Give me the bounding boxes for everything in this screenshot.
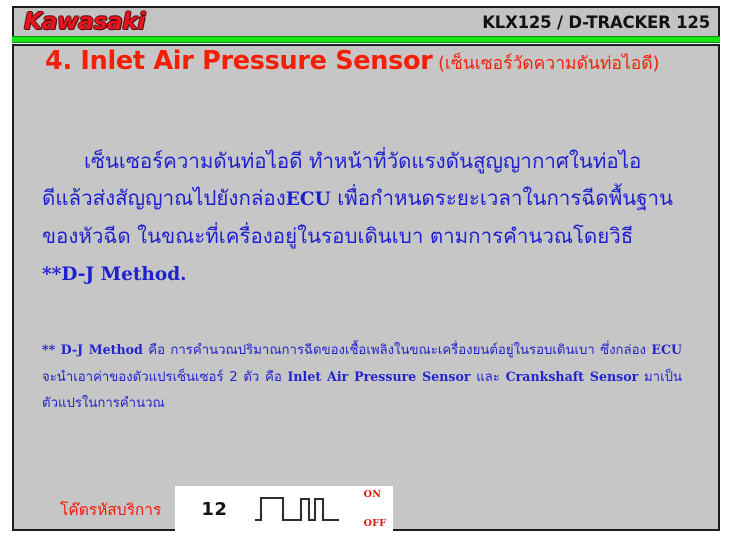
paragraph-segment: ECU [286, 189, 331, 210]
signal-off-label: OFF [364, 518, 387, 529]
footnote-paragraph: ** D-J Method คือ การคำนวณปริมาณการฉีดขอ… [42, 337, 682, 417]
paragraph-segment: **D-J Method. [42, 264, 187, 285]
footnote-segment: จะนำเอาค่าของตัวแปรเซ็นเซอร์ 2 ตัว คือ [42, 370, 287, 385]
service-code-box: 12 ON OFF [175, 486, 393, 532]
slide-canvas: Kawasaki KLX125 / D-TRACKER 125 4. Inlet… [0, 0, 732, 549]
footnote-segment: Inlet Air Pressure Sensor [287, 369, 470, 384]
page-title-main: 4. Inlet Air Pressure Sensor [45, 46, 433, 76]
footnote-segment: และ [471, 370, 506, 385]
model-name-label: KLX125 / D-TRACKER 125 [482, 13, 710, 32]
green-accent-rule [12, 36, 720, 43]
footnote-segment: คือ การคำนวณปริมาณการฉีดของเชื้อเพลิงในข… [143, 343, 652, 358]
footnote-segment: ** D-J Method [42, 342, 143, 357]
service-code-row: โค๊ตรหัสบริการ 12 ON OFF [60, 485, 440, 533]
signal-on-label: ON [364, 489, 382, 500]
body-paragraph: เซ็นเซอร์ความดันท่อไอดี ทำหน้าที่วัดแรงด… [42, 143, 680, 293]
service-code-label: โค๊ตรหัสบริการ [60, 497, 161, 522]
page-title-thai: (เซ็นเซอร์วัดความดันท่อไอดี) [433, 54, 660, 74]
service-code-value: 12 [201, 499, 227, 520]
signal-waveform-icon [253, 493, 345, 525]
page-title: 4. Inlet Air Pressure Sensor (เซ็นเซอร์ว… [45, 48, 675, 74]
header-band: Kawasaki KLX125 / D-TRACKER 125 [12, 6, 720, 38]
footnote-segment: Crankshaft Sensor [506, 369, 639, 384]
signal-state-labels: ON OFF [364, 489, 387, 529]
footnote-segment: ECU [651, 342, 682, 357]
kawasaki-logo: Kawasaki [24, 11, 145, 34]
